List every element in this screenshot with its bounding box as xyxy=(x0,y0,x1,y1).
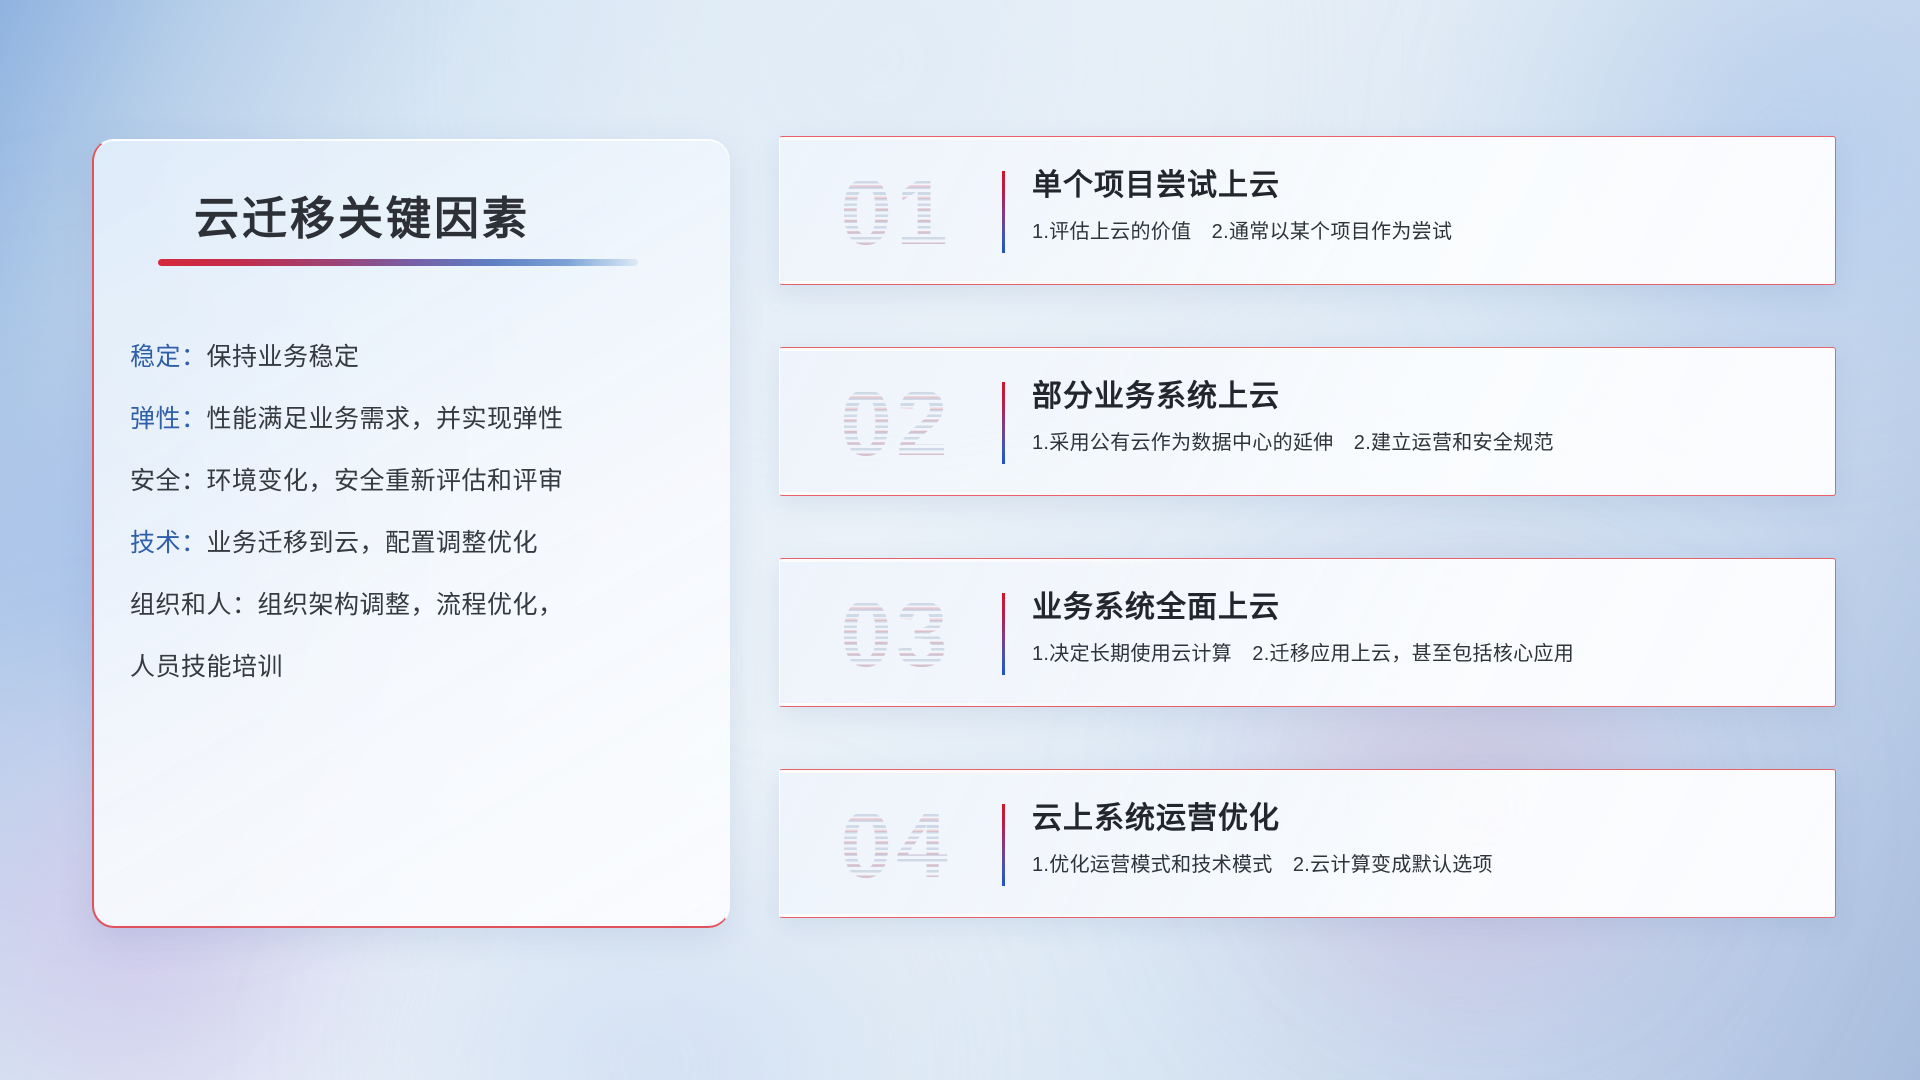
step-divider-accent xyxy=(1002,171,1005,253)
factor-item: 弹性：性能满足业务需求，并实现弹性 xyxy=(130,388,720,450)
step-title: 单个项目尝试上云 xyxy=(1032,163,1811,209)
step-title: 云上系统运营优化 xyxy=(1032,796,1811,842)
step-description: 1.优化运营模式和技术模式 2.云计算变成默认选项 xyxy=(1032,850,1811,880)
factor-label: 技术： xyxy=(130,529,207,557)
title-underline-accent xyxy=(158,259,638,266)
factor-item: 安全：环境变化，安全重新评估和评审 xyxy=(130,450,720,512)
factor-text: 人员技能培训 xyxy=(130,653,283,681)
step-body: 业务系统全面上云 1.决定长期使用云计算 2.迁移应用上云，甚至包括核心应用 xyxy=(1032,585,1811,669)
step-body: 云上系统运营优化 1.优化运营模式和技术模式 2.云计算变成默认选项 xyxy=(1032,796,1811,880)
slide-root: 云迁移关键因素 稳定：保持业务稳定 弹性：性能满足业务需求，并实现弹性 安全：环… xyxy=(0,0,1920,1080)
step-description: 1.决定长期使用云计算 2.迁移应用上云，甚至包括核心应用 xyxy=(1032,639,1811,669)
factor-text: 组织架构调整，流程优化， xyxy=(258,591,564,619)
factor-text: 业务迁移到云，配置调整优化 xyxy=(207,529,539,557)
factor-label: 安全： xyxy=(130,467,207,495)
step-divider-accent xyxy=(1002,382,1005,464)
step-number-glyph: 03 xyxy=(806,575,986,693)
step-number-glyph: 02 xyxy=(806,364,986,482)
step-card[interactable]: 03 03 业务系统全面上云 1.决定长期使用云计算 2.迁移应用上云，甚至包括… xyxy=(779,558,1836,707)
factor-item: 稳定：保持业务稳定 xyxy=(130,326,720,388)
factor-item: 组织和人：组织架构调整，流程优化， xyxy=(130,574,720,636)
factor-item: 技术：业务迁移到云，配置调整优化 xyxy=(130,512,720,574)
factor-text: 性能满足业务需求，并实现弹性 xyxy=(207,405,564,433)
factor-text: 保持业务稳定 xyxy=(207,343,360,371)
step-title: 业务系统全面上云 xyxy=(1032,585,1811,631)
step-card[interactable]: 01 01 单个项目尝试上云 1.评估上云的价值 2.通常以某个项目作为尝试 xyxy=(779,136,1836,285)
factor-list: 稳定：保持业务稳定 弹性：性能满足业务需求，并实现弹性 安全：环境变化，安全重新… xyxy=(130,326,720,698)
factor-label: 稳定： xyxy=(130,343,207,371)
factor-label: 弹性： xyxy=(130,405,207,433)
panel-title: 云迁移关键因素 xyxy=(194,182,530,247)
step-divider-accent xyxy=(1002,804,1005,886)
step-body: 单个项目尝试上云 1.评估上云的价值 2.通常以某个项目作为尝试 xyxy=(1032,163,1811,247)
step-description: 1.评估上云的价值 2.通常以某个项目作为尝试 xyxy=(1032,217,1811,247)
step-title: 部分业务系统上云 xyxy=(1032,374,1811,420)
step-number-glyph-tint: 02 xyxy=(806,364,986,482)
factor-item-continuation: 人员技能培训 xyxy=(130,636,720,698)
step-number-glyph: 01 xyxy=(806,153,986,271)
factor-text: 环境变化，安全重新评估和评审 xyxy=(207,467,564,495)
step-number-glyph-tint: 03 xyxy=(806,575,986,693)
step-number-glyph-tint: 04 xyxy=(806,786,986,904)
factor-label: 组织和人： xyxy=(130,591,258,619)
step-number-glyph: 04 xyxy=(806,786,986,904)
migration-steps-list: 01 01 单个项目尝试上云 1.评估上云的价值 2.通常以某个项目作为尝试 0… xyxy=(779,136,1836,980)
step-description: 1.采用公有云作为数据中心的延伸 2.建立运营和安全规范 xyxy=(1032,428,1811,458)
step-card[interactable]: 04 04 云上系统运营优化 1.优化运营模式和技术模式 2.云计算变成默认选项 xyxy=(779,769,1836,918)
step-divider-accent xyxy=(1002,593,1005,675)
step-number-glyph-tint: 01 xyxy=(806,153,986,271)
step-body: 部分业务系统上云 1.采用公有云作为数据中心的延伸 2.建立运营和安全规范 xyxy=(1032,374,1811,458)
step-card[interactable]: 02 02 部分业务系统上云 1.采用公有云作为数据中心的延伸 2.建立运营和安… xyxy=(779,347,1836,496)
key-factors-panel: 云迁移关键因素 稳定：保持业务稳定 弹性：性能满足业务需求，并实现弹性 安全：环… xyxy=(92,139,730,928)
